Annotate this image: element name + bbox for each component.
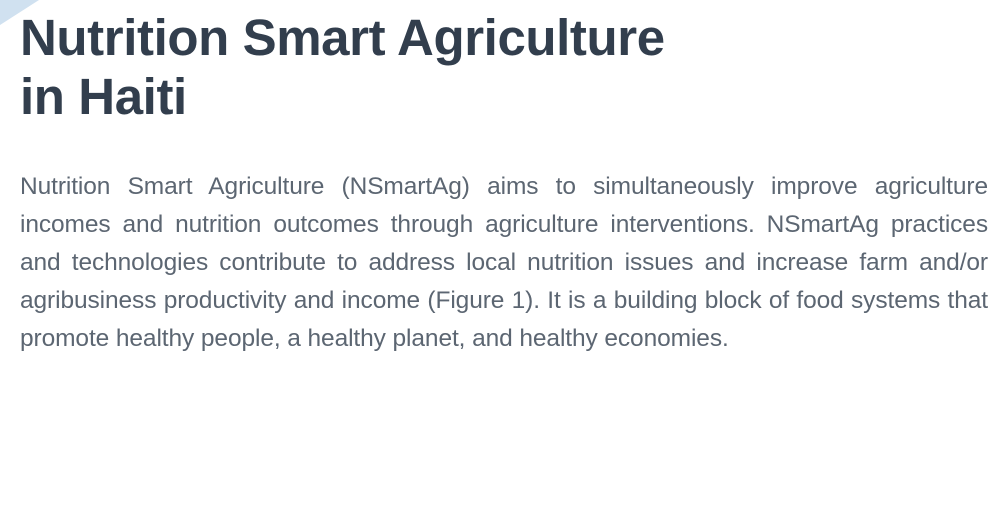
document-page: Nutrition Smart Agriculture in Haiti Nut…: [0, 0, 1000, 505]
document-content: Nutrition Smart Agriculture in Haiti Nut…: [20, 0, 988, 358]
page-title: Nutrition Smart Agriculture in Haiti: [20, 0, 988, 126]
body-paragraph: Nutrition Smart Agriculture (NSmartAg) a…: [20, 126, 988, 358]
